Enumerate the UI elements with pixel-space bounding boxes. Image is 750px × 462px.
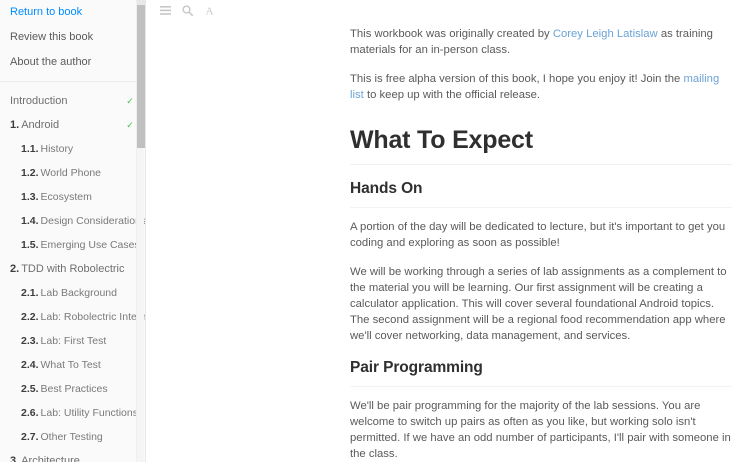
chapter-content: This workbook was originally created by … bbox=[146, 0, 750, 462]
ebook-reader-app: Return to bookReview this bookAbout the … bbox=[0, 0, 750, 462]
content-sections: Hands OnA portion of the day will be ded… bbox=[350, 179, 732, 462]
sidebar-item-label: Ecosystem bbox=[41, 191, 92, 203]
sidebar-item-number: 1.3. bbox=[21, 191, 39, 203]
sidebar-item-label: Android bbox=[21, 119, 59, 131]
sidebar-item-number: 1. bbox=[10, 119, 19, 131]
reader-pane: A This workbook was originally created b… bbox=[146, 0, 750, 462]
sidebar-scrollbar-track[interactable] bbox=[136, 0, 144, 462]
content-link[interactable]: Corey Leigh Latislaw bbox=[553, 28, 658, 40]
sidebar-item-design-considerations[interactable]: 1.4.Design Considerations bbox=[0, 209, 145, 233]
sidebar-item-lab-utility-functions[interactable]: 2.6.Lab: Utility Functions bbox=[0, 401, 145, 425]
sidebar-item-history[interactable]: 1.1.History bbox=[0, 137, 145, 161]
sidebar-item-label: Best Practices bbox=[41, 383, 108, 395]
sidebar-item-label: What To Test bbox=[41, 359, 101, 371]
sidebar-item-label: World Phone bbox=[41, 167, 102, 179]
sidebar-review-this-book[interactable]: Review this book bbox=[0, 25, 145, 50]
sidebar-item-number: 2.1. bbox=[21, 287, 39, 299]
sidebar-item-introduction[interactable]: Introduction✓ bbox=[0, 89, 145, 113]
sidebar-item-tdd-with-robolectric[interactable]: 2.TDD with Robolectric bbox=[0, 257, 145, 281]
content-text: to keep up with the official release. bbox=[364, 89, 540, 101]
sidebar-return-to-book[interactable]: Return to book bbox=[0, 0, 145, 25]
sidebar-item-lab-first-test[interactable]: 2.3.Lab: First Test bbox=[0, 329, 145, 353]
sidebar-item-label: TDD with Robolectric bbox=[21, 263, 124, 275]
sidebar-scroll-area[interactable]: Return to bookReview this bookAbout the … bbox=[0, 0, 145, 462]
sidebar-chapter-list: Introduction✓1.Android✓1.1.History1.2.Wo… bbox=[0, 82, 145, 462]
sidebar-item-lab-background[interactable]: 2.1.Lab Background bbox=[0, 281, 145, 305]
section-heading-pair-programming: Pair Programming bbox=[350, 358, 732, 387]
checkmark-icon: ✓ bbox=[125, 96, 135, 106]
section-heading-hands-on: Hands On bbox=[350, 179, 732, 208]
sidebar-item-label: History bbox=[41, 143, 74, 155]
sidebar-item-number: 1.1. bbox=[21, 143, 39, 155]
intro-paragraph: This workbook was originally created by … bbox=[350, 26, 732, 58]
sidebar-item-emerging-use-cases[interactable]: 1.5.Emerging Use Cases bbox=[0, 233, 145, 257]
section-paragraph: We will be working through a series of l… bbox=[350, 264, 732, 344]
sidebar-scrollbar-thumb[interactable] bbox=[137, 5, 145, 148]
sidebar-item-number: 2.2. bbox=[21, 311, 39, 323]
sidebar-item-number: 2.3. bbox=[21, 335, 39, 347]
sidebar-item-label: Lab: First Test bbox=[41, 335, 107, 347]
sidebar-item-number: 3. bbox=[10, 455, 19, 462]
section-paragraph: A portion of the day will be dedicated t… bbox=[350, 219, 732, 251]
sidebar-item-label: Architecture bbox=[21, 455, 80, 462]
sidebar-item-label: Other Testing bbox=[41, 431, 103, 443]
sidebar-item-world-phone[interactable]: 1.2.World Phone bbox=[0, 161, 145, 185]
sidebar-item-number: 1.4. bbox=[21, 215, 39, 227]
content-text: This is free alpha version of this book,… bbox=[350, 73, 683, 85]
sidebar-item-best-practices[interactable]: 2.5.Best Practices bbox=[0, 377, 145, 401]
content-text: This workbook was originally created by bbox=[350, 28, 553, 40]
sidebar-item-number: 1.2. bbox=[21, 167, 39, 179]
sidebar-item-number: 2. bbox=[10, 263, 19, 275]
sidebar-item-other-testing[interactable]: 2.7.Other Testing bbox=[0, 425, 145, 449]
sidebar-navigation: Return to bookReview this bookAbout the … bbox=[0, 0, 146, 462]
intro-paragraphs: This workbook was originally created by … bbox=[350, 26, 732, 103]
sidebar-item-number: 2.5. bbox=[21, 383, 39, 395]
sidebar-item-label: Emerging Use Cases bbox=[41, 239, 140, 251]
sidebar-item-label: Lab: Utility Functions bbox=[41, 407, 138, 419]
sidebar-item-ecosystem[interactable]: 1.3.Ecosystem bbox=[0, 185, 145, 209]
page-title: What To Expect bbox=[350, 125, 732, 165]
sidebar-item-label: Lab: Robolectric Integration bbox=[41, 311, 145, 323]
chapter-content-inner: This workbook was originally created by … bbox=[350, 26, 732, 462]
intro-paragraph: This is free alpha version of this book,… bbox=[350, 71, 732, 103]
sidebar-item-label: Introduction bbox=[10, 95, 67, 107]
sidebar-item-number: 1.5. bbox=[21, 239, 39, 251]
sidebar-item-number: 2.7. bbox=[21, 431, 39, 443]
sidebar-item-architecture[interactable]: 3.Architecture bbox=[0, 449, 145, 462]
sidebar-top-links: Return to bookReview this bookAbout the … bbox=[0, 0, 145, 82]
sidebar-item-lab-robolectric-integration[interactable]: 2.2.Lab: Robolectric Integration bbox=[0, 305, 145, 329]
section-paragraph: We'll be pair programming for the majori… bbox=[350, 398, 732, 462]
checkmark-icon: ✓ bbox=[125, 120, 135, 130]
sidebar-item-label: Design Considerations bbox=[41, 215, 145, 227]
sidebar-about-the-author[interactable]: About the author bbox=[0, 50, 145, 75]
sidebar-item-number: 2.4. bbox=[21, 359, 39, 371]
sidebar-item-label: Lab Background bbox=[41, 287, 117, 299]
sidebar-item-number: 2.6. bbox=[21, 407, 39, 419]
sidebar-item-android[interactable]: 1.Android✓ bbox=[0, 113, 145, 137]
sidebar-item-what-to-test[interactable]: 2.4.What To Test bbox=[0, 353, 145, 377]
